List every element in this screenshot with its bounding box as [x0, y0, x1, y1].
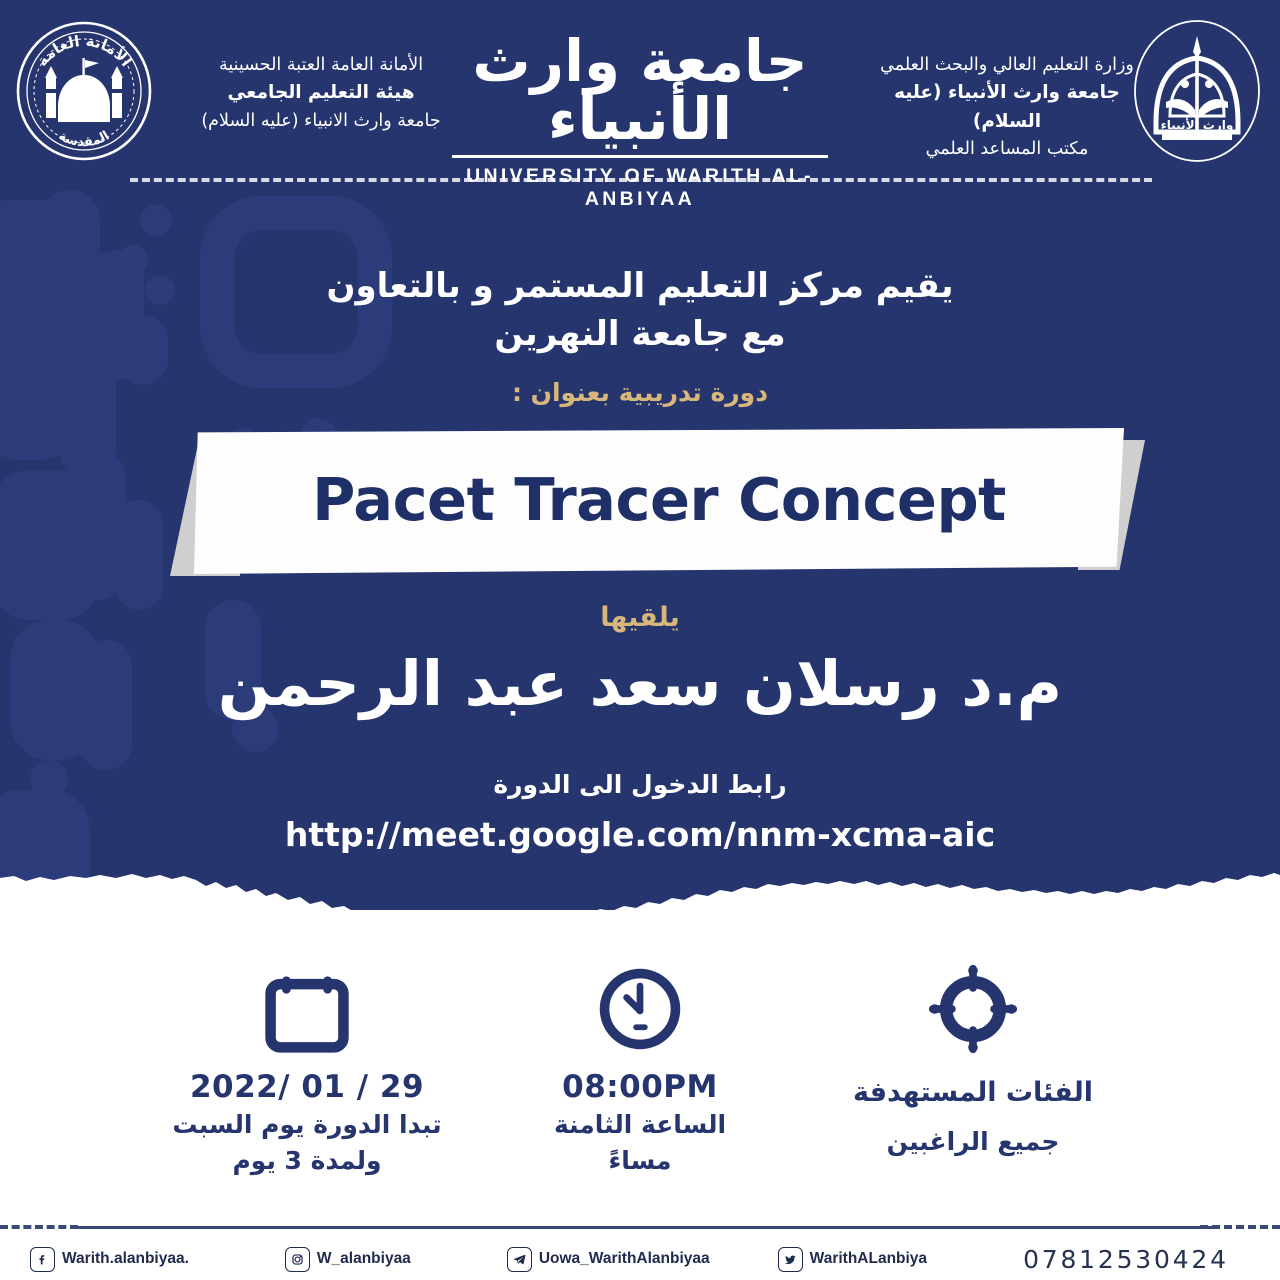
- torn-paper-edge: [0, 862, 1280, 932]
- ministry-line-2: جامعة وارث الأنبياء (عليه السلام): [862, 79, 1152, 136]
- target-icon: [807, 955, 1140, 1063]
- course-title: Pacet Tracer Concept: [312, 465, 1006, 534]
- calendar-icon: [141, 955, 474, 1063]
- event-details-row: 2022/ 01 / 29 تبدا الدورة يوم السبت ولمد…: [0, 955, 1280, 1195]
- ministry-affiliation-block: وزارة التعليم العالي والبحث العلمي جامعة…: [862, 52, 1152, 164]
- poster-footer: Warith.alanbiyaa. W_alanbiyaa Uowa_Warit…: [0, 1238, 1280, 1280]
- instagram-icon: [285, 1247, 310, 1272]
- contact-phone-list: 07812530424 07740811806: [1023, 1245, 1280, 1274]
- decor-shape: [145, 275, 175, 305]
- time-note-1: الساعة الثامنة: [474, 1108, 807, 1141]
- meeting-link-url[interactable]: http://meet.google.com/nnm-xcma-aic: [240, 815, 1040, 854]
- decor-shape: [140, 205, 172, 237]
- poster-header: الأمانة العامة المقدسة الأمانة العامة ال…: [0, 0, 1280, 170]
- decor-shape: [115, 500, 163, 610]
- organizer-intro: يقيم مركز التعليم المستمر و بالتعاون مع …: [240, 262, 1040, 359]
- organizer-intro-line-2: مع جامعة النهرين: [240, 310, 1040, 358]
- date-note-1: تبدا الدورة يوم السبت: [141, 1108, 474, 1141]
- banner-body: Pacet Tracer Concept: [194, 428, 1124, 574]
- time-note-2: مساءً: [474, 1144, 807, 1177]
- footer-divider-dash-left: [0, 1225, 78, 1229]
- twitter-handle: WarithALanbiya: [810, 1250, 927, 1268]
- detail-card-audience: الفئات المستهدفة جميع الراغبين: [807, 955, 1140, 1158]
- speaker-label: يلقيها: [440, 602, 840, 633]
- telegram-icon: [507, 1247, 532, 1272]
- date-value: 2022/ 01 / 29: [141, 1069, 474, 1105]
- social-facebook[interactable]: Warith.alanbiyaa.: [30, 1247, 189, 1272]
- decor-shape: [35, 345, 71, 381]
- holy-shrine-seal-logo: الأمانة العامة المقدسة: [14, 20, 154, 162]
- social-instagram[interactable]: W_alanbiyaa: [285, 1247, 411, 1272]
- emblem-arabic-text: وارث الأنبياء: [1161, 117, 1234, 133]
- social-twitter[interactable]: WarithALanbiya: [778, 1247, 927, 1272]
- event-poster: الأمانة العامة المقدسة الأمانة العامة ال…: [0, 0, 1280, 1280]
- decor-shape: [118, 315, 168, 385]
- university-english-name: UNIVERSITY OF WARITH AL-ANBIYAA: [418, 165, 862, 211]
- time-value: 08:00PM: [474, 1069, 807, 1105]
- organizer-intro-line-1: يقيم مركز التعليم المستمر و بالتعاون: [240, 262, 1040, 310]
- detail-card-date: 2022/ 01 / 29 تبدا الدورة يوم السبت ولمد…: [141, 955, 474, 1177]
- clock-icon: [474, 955, 807, 1063]
- phone-number-1: 07812530424: [1023, 1245, 1229, 1274]
- twitter-icon: [778, 1247, 803, 1272]
- detail-card-time: 08:00PM الساعة الثامنة مساءً: [474, 955, 807, 1177]
- social-telegram[interactable]: Uowa_WarithAlanbiyaa: [507, 1247, 710, 1272]
- instagram-handle: W_alanbiyaa: [317, 1250, 411, 1268]
- date-note-2: ولمدة 3 يوم: [141, 1144, 474, 1177]
- university-arabic-wordmark: جامعة وارث الأنبياء: [418, 18, 862, 148]
- facebook-icon: [30, 1247, 55, 1272]
- university-emblem-logo: وارث الأنبياء: [1126, 18, 1268, 164]
- course-label: دورة تدريبية بعنوان :: [340, 378, 940, 407]
- facebook-handle: Warith.alanbiyaa.: [62, 1250, 189, 1268]
- ministry-line-3: مكتب المساعد العلمي: [862, 136, 1152, 163]
- wordmark-rule: [452, 155, 828, 158]
- footer-divider-dash-right: [1200, 1225, 1280, 1229]
- speaker-name: م.د رسلان سعد عبد الرحمن: [120, 648, 1160, 719]
- university-wordmark: جامعة وارث الأنبياء UNIVERSITY OF WARITH…: [418, 18, 862, 158]
- footer-divider-solid: [72, 1226, 1212, 1229]
- telegram-handle: Uowa_WarithAlanbiyaa: [539, 1250, 710, 1268]
- audience-label: الفئات المستهدفة: [807, 1075, 1140, 1111]
- decor-shape: [118, 245, 148, 275]
- ministry-line-1: وزارة التعليم العالي والبحث العلمي: [862, 52, 1152, 79]
- meeting-link-label: رابط الدخول الى الدورة: [340, 770, 940, 799]
- audience-value: جميع الراغبين: [807, 1125, 1140, 1158]
- course-title-banner: Pacet Tracer Concept: [170, 428, 1145, 580]
